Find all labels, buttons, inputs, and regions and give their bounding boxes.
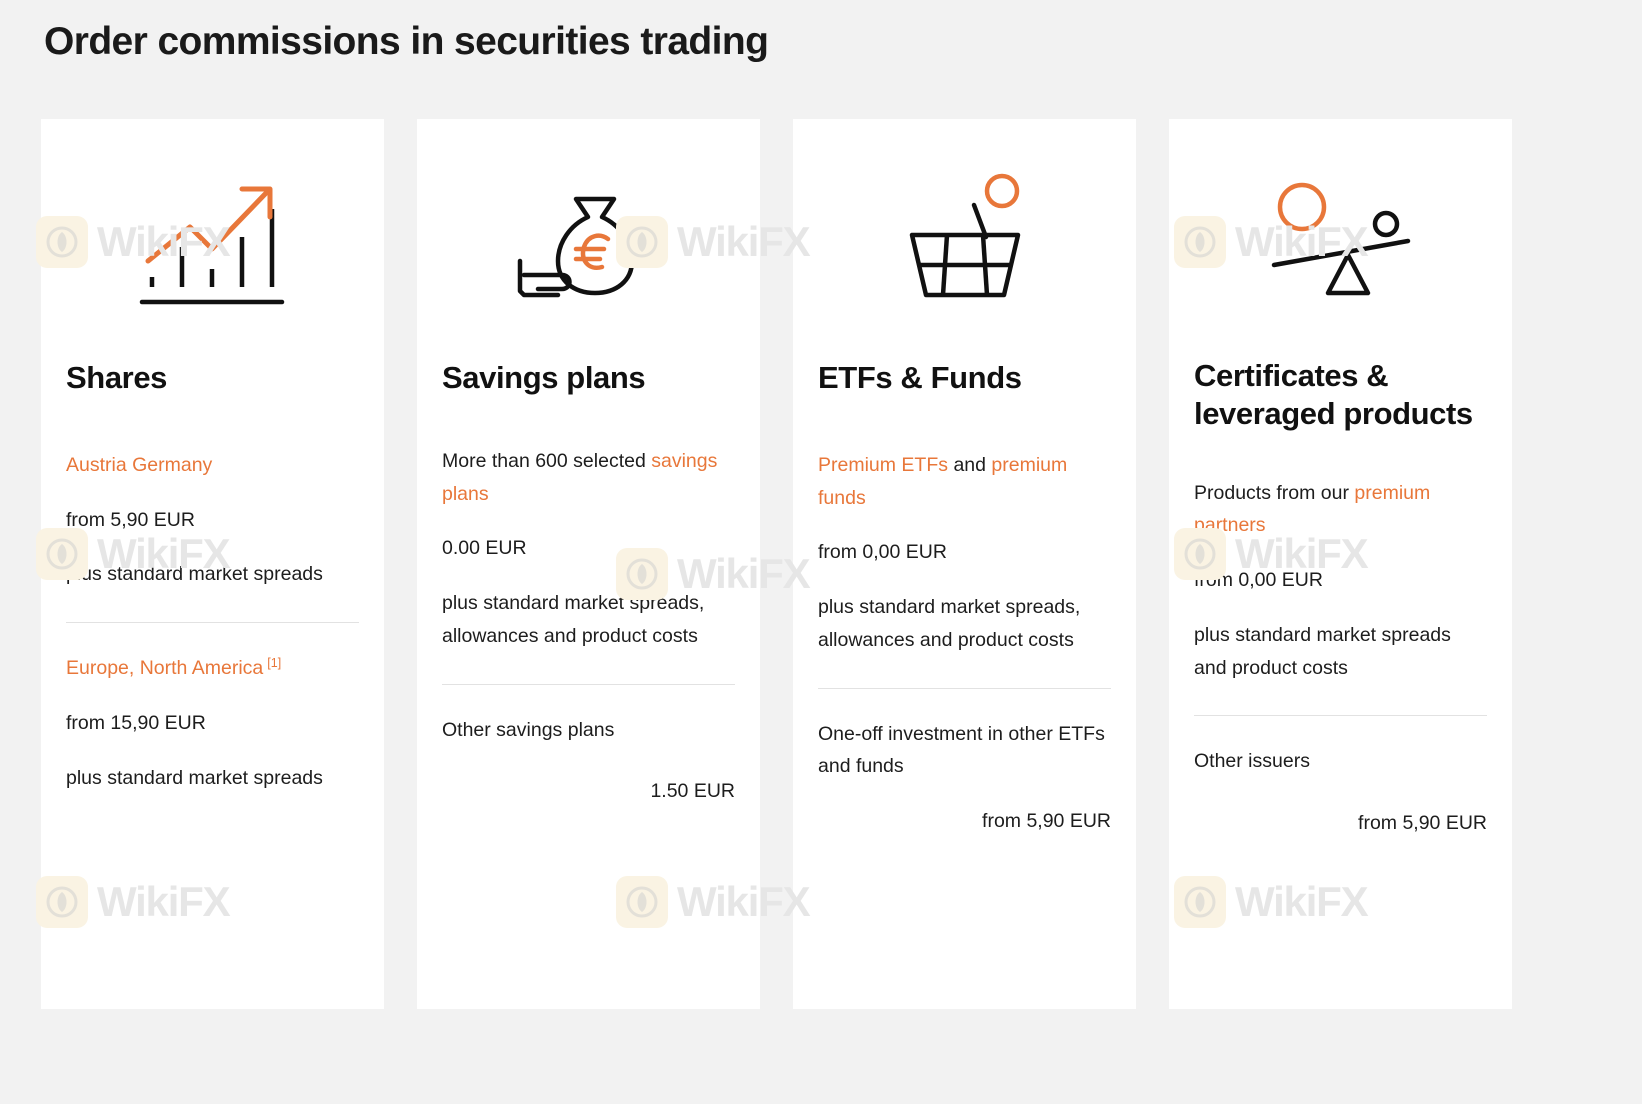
savings-other-label: Other savings plans — [442, 714, 735, 747]
money-bag-icon — [442, 119, 735, 359]
card-divider — [1194, 715, 1487, 716]
certificates-section-premium: Products from our premium partners from … — [1194, 477, 1487, 685]
footnote-marker[interactable]: [1] — [267, 656, 281, 670]
shares-domestic-link[interactable]: Austria Germany — [66, 449, 359, 482]
shares-international-link[interactable]: Europe, North America — [66, 657, 263, 679]
pricing-card-shares: Shares Austria Germany from 5,90 EUR plu… — [41, 119, 384, 1009]
savings-selected-price: 0.00 EUR — [442, 532, 735, 565]
etfs-one-off-price: from 5,90 EUR — [818, 805, 1111, 838]
shares-international-line: Europe, North America[1] — [66, 652, 359, 685]
certificates-other-price: from 5,90 EUR — [1194, 807, 1487, 840]
shares-section-international: Europe, North America[1] from 15,90 EUR … — [66, 652, 359, 794]
card-divider — [442, 684, 735, 685]
etfs-premium-price: from 0,00 EUR — [818, 536, 1111, 569]
certificates-other-label: Other issuers — [1194, 745, 1487, 778]
card-title-certificates-line-2: leveraged products — [1194, 396, 1473, 431]
card-title-etfs-funds: ETFs & Funds — [818, 359, 1111, 397]
etfs-section-premium: Premium ETFs and premium funds from 0,00… — [818, 449, 1111, 657]
etfs-section-one-off: One-off investment in other ETFs and fun… — [818, 718, 1111, 838]
savings-selected-lead: More than 600 selected savings plans — [442, 445, 735, 511]
etfs-one-off-label-line-1: One-off investment in other ETFs — [818, 718, 1111, 751]
card-title-certificates: Certificates & leveraged products — [1194, 357, 1487, 433]
card-title-savings-plans: Savings plans — [442, 359, 735, 397]
card-divider — [818, 688, 1111, 689]
etfs-conjunction: and — [953, 454, 986, 476]
etfs-premium-lead: Premium ETFs and premium funds — [818, 449, 1111, 515]
page-title: Order commissions in securities trading — [44, 20, 768, 64]
shares-domestic-note: plus standard market spreads — [66, 558, 359, 591]
card-title-certificates-line-1: Certificates & — [1194, 358, 1388, 393]
certificates-section-other: Other issuers from 5,90 EUR — [1194, 745, 1487, 840]
savings-other-price: 1.50 EUR — [442, 775, 735, 808]
certificates-premium-price: from 0,00 EUR — [1194, 564, 1487, 597]
pricing-card-savings-plans: Savings plans More than 600 selected sav… — [417, 119, 760, 1009]
savings-selected-note: plus standard market spreads, allowances… — [442, 587, 735, 653]
shares-international-price: from 15,90 EUR — [66, 707, 359, 740]
certificates-premium-lead: Products from our premium partners — [1194, 477, 1487, 543]
pricing-card-grid: Shares Austria Germany from 5,90 EUR plu… — [41, 119, 1512, 1009]
growth-chart-icon — [66, 119, 359, 359]
pricing-card-certificates: Certificates & leveraged products Produc… — [1169, 119, 1512, 1009]
card-title-shares: Shares — [66, 359, 359, 397]
savings-section-selected: More than 600 selected savings plans 0.0… — [442, 445, 735, 653]
shopping-basket-icon — [818, 119, 1111, 359]
shares-domestic-price: from 5,90 EUR — [66, 504, 359, 537]
balance-scale-icon — [1194, 119, 1487, 359]
certificates-premium-note: plus standard market spreads and product… — [1194, 619, 1487, 685]
shares-section-domestic: Austria Germany from 5,90 EUR plus stand… — [66, 449, 359, 591]
card-divider — [66, 622, 359, 623]
etfs-one-off-label-line-2: and funds — [818, 750, 1111, 783]
premium-etfs-link[interactable]: Premium ETFs — [818, 454, 948, 476]
savings-section-other: Other savings plans 1.50 EUR — [442, 714, 735, 809]
certificates-lead-text: Products from our — [1194, 482, 1349, 504]
pricing-card-etfs-funds: ETFs & Funds Premium ETFs and premium fu… — [793, 119, 1136, 1009]
shares-international-note: plus standard market spreads — [66, 762, 359, 795]
etfs-premium-note: plus standard market spreads, allowances… — [818, 591, 1111, 657]
savings-lead-text: More than 600 selected — [442, 450, 646, 472]
